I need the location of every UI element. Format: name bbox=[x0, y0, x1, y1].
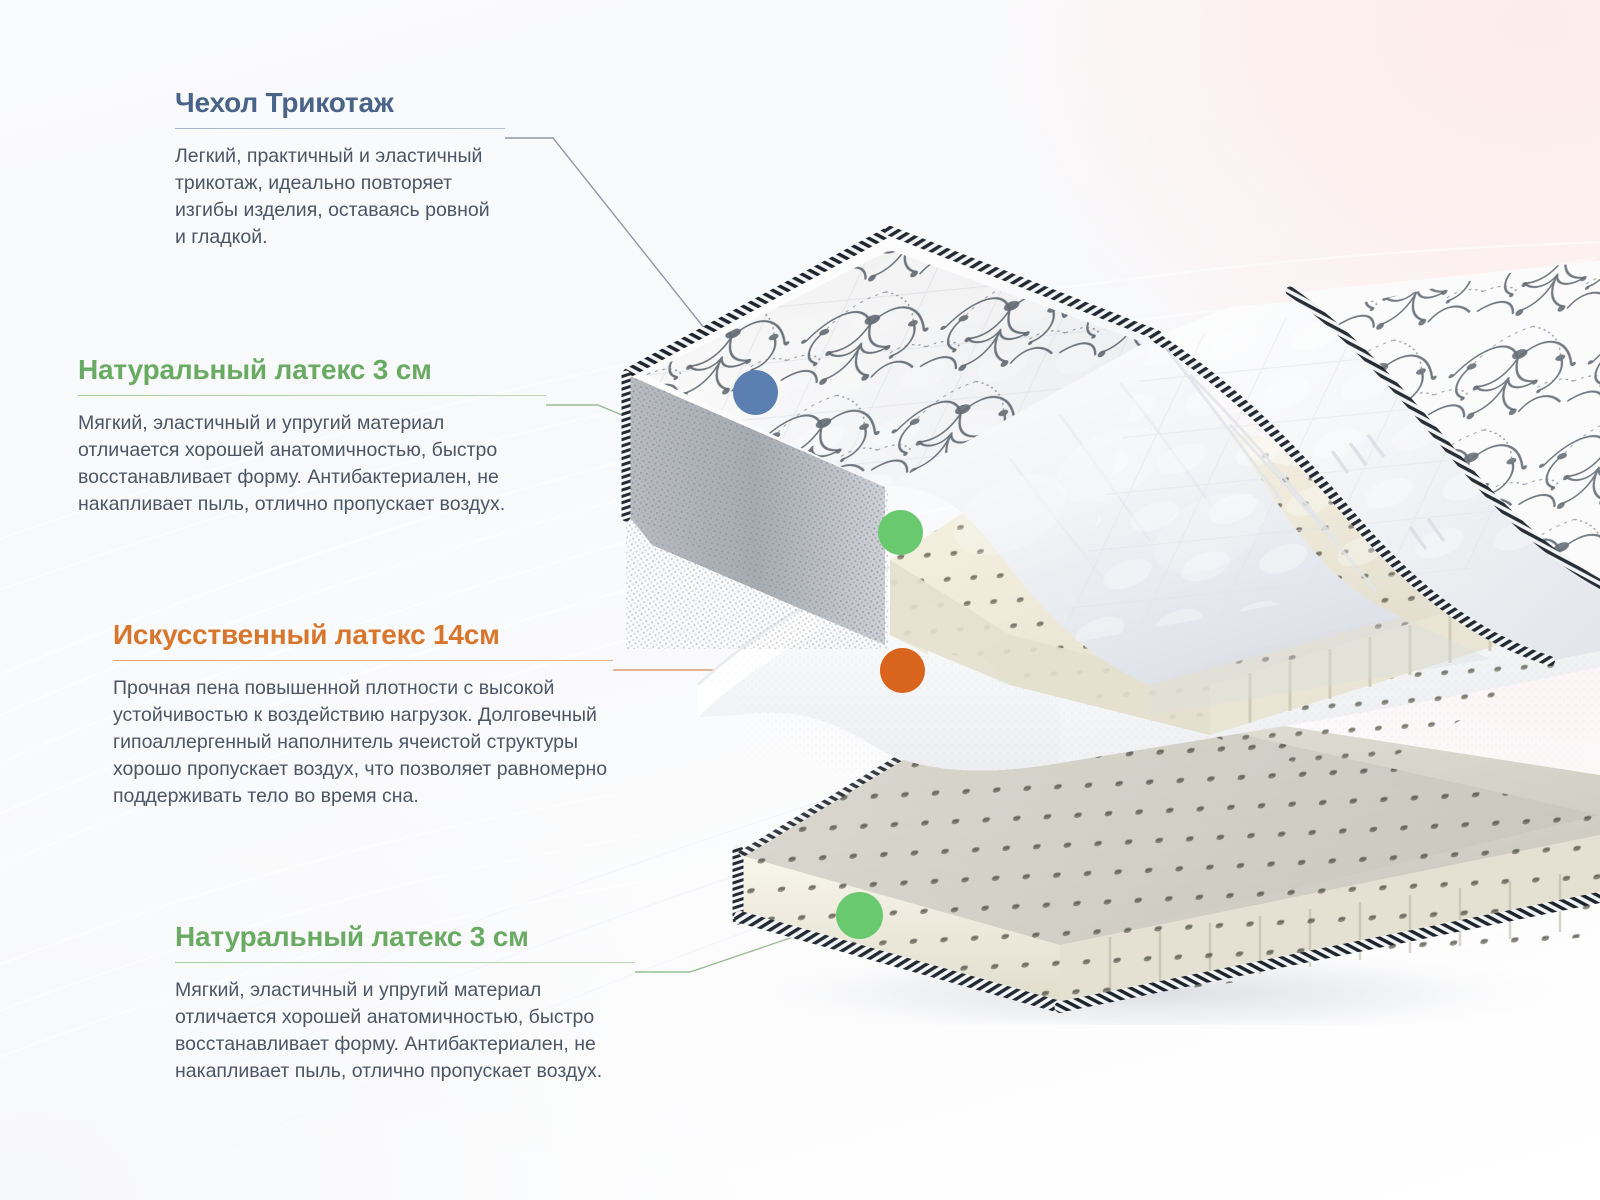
callout-body-text-latex-bottom: Мягкий, эластичный и упругий материал от… bbox=[175, 977, 635, 1085]
callout-block-cover: Чехол Трикотаж Легкий, практичный и элас… bbox=[175, 88, 505, 251]
callout-dot-foam[interactable] bbox=[880, 648, 925, 693]
layer-knitted-quilted-cover bbox=[620, 225, 1600, 715]
callout-rule-latex-bottom bbox=[175, 962, 635, 963]
callout-rule-latex-top bbox=[78, 395, 546, 396]
callout-title-cover: Чехол Трикотаж bbox=[175, 88, 505, 119]
callout-body-latex-bottom: Мягкий, эластичный и упругий материал от… bbox=[175, 977, 635, 1085]
callout-body-latex-top: Мягкий, эластичный и упругий материал от… bbox=[78, 410, 546, 518]
callout-title-foam: Искусственный латекс 14см bbox=[113, 620, 633, 651]
callout-body-cover: Легкий, практичный и эластичный трикотаж… bbox=[175, 143, 505, 251]
callout-dot-latex-bottom[interactable] bbox=[836, 892, 883, 939]
callout-dot-cover[interactable] bbox=[733, 370, 778, 415]
callout-rule-foam bbox=[113, 660, 613, 661]
callout-block-latex-bottom: Натуральный латекс 3 см Мягкий, эластичн… bbox=[175, 922, 635, 1085]
callout-rule-cover bbox=[175, 128, 505, 129]
callout-block-foam: Искусственный латекс 14см Прочная пена п… bbox=[113, 620, 633, 810]
callout-dot-latex-top[interactable] bbox=[878, 510, 923, 555]
callout-block-latex-top: Натуральный латекс 3 см Мягкий, эластичн… bbox=[78, 355, 546, 518]
callout-title-latex-top: Натуральный латекс 3 см bbox=[78, 355, 546, 386]
mattress-cutaway-illustration bbox=[590, 215, 1600, 1025]
callout-body-text-cover: Легкий, практичный и эластичный трикотаж… bbox=[175, 143, 505, 251]
callout-body-foam: Прочная пена повышенной плотности с высо… bbox=[113, 675, 633, 810]
callout-title-latex-bottom: Натуральный латекс 3 см bbox=[175, 922, 635, 953]
callout-body-text-latex-top: Мягкий, эластичный и упругий материал от… bbox=[78, 410, 546, 518]
infographic-canvas: Чехол Трикотаж Легкий, практичный и элас… bbox=[0, 0, 1600, 1200]
callout-body-text-foam: Прочная пена повышенной плотности с высо… bbox=[113, 675, 633, 810]
